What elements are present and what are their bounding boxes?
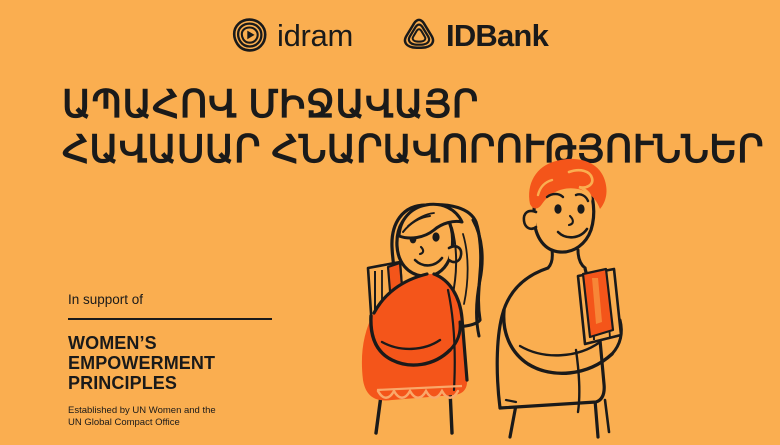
headline-line-1: ԱՊԱՀՈՎ ՄԻՋԱՎԱՅՐ: [62, 83, 762, 128]
girl-figure: [362, 204, 482, 433]
two-students-back-to-back-illustration: [330, 150, 780, 445]
wep-footnote: Established by UN Women and the UN Globa…: [68, 405, 283, 428]
wep-divider: [68, 318, 272, 320]
idram-wordmark: idram: [277, 20, 353, 51]
wep-title-line-2: EMPOWERMENT: [68, 353, 283, 373]
idbank-logo[interactable]: IDBank: [401, 17, 548, 53]
wep-endorsement-block: In support of WOMEN’S EMPOWERMENT PRINCI…: [68, 292, 283, 428]
logo-row: idram IDBank: [0, 12, 780, 58]
wep-footnote-line-1: Established by UN Women and the: [68, 405, 283, 417]
campaign-banner: idram IDBank ԱՊԱՀՈՎ ՄԻՋԱՎԱՅՐ ՀԱՎԱՍԱՐ ՀՆԱ…: [0, 0, 780, 445]
in-support-of-label: In support of: [68, 292, 283, 308]
boy-figure: [497, 159, 621, 437]
boy-books: [578, 269, 621, 344]
idbank-logo-mark: [401, 17, 437, 53]
idbank-wordmark: IDBank: [446, 20, 548, 51]
idram-logo[interactable]: idram: [232, 17, 353, 53]
wep-footnote-line-2: UN Global Compact Office: [68, 417, 283, 429]
wep-title-line-1: WOMEN’S: [68, 333, 283, 353]
wep-title-line-3: PRINCIPLES: [68, 373, 283, 393]
idram-logo-mark: [232, 17, 268, 53]
wep-title: WOMEN’S EMPOWERMENT PRINCIPLES: [68, 333, 283, 393]
